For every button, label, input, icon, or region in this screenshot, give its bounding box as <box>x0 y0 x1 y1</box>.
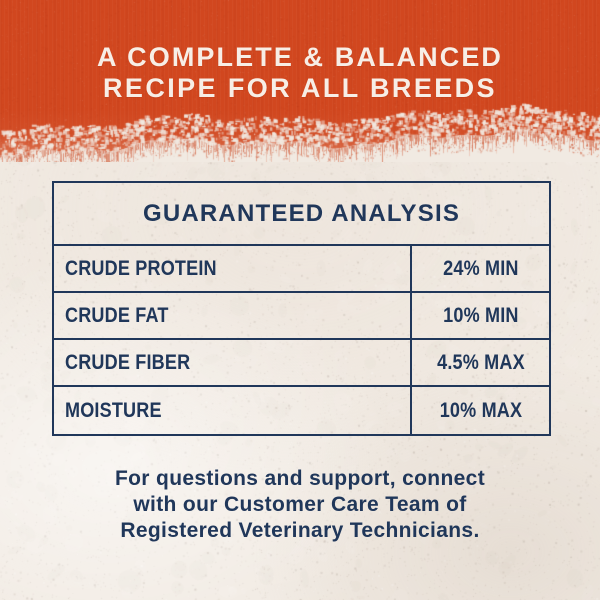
table-row: Crude Fat 10% MIN <box>54 293 549 340</box>
nutrient-value-cell: 4.5% MAX <box>412 340 549 385</box>
nutrient-label-cell: Crude Fiber <box>54 340 412 385</box>
guaranteed-analysis-table: Guaranteed Analysis Crude Protein 24% MI… <box>52 181 551 436</box>
nutrient-value: 10% MIN <box>443 304 518 328</box>
nutrient-name: Crude Fat <box>65 304 169 328</box>
support-line-3: Registered Veterinary Technicians. <box>40 518 560 544</box>
nutrient-name: Crude Protein <box>65 257 217 281</box>
nutrient-value-cell: 10% MAX <box>412 387 549 434</box>
table-row: Moisture 10% MAX <box>54 387 549 434</box>
headline-line-1: A Complete & Balanced <box>97 42 503 72</box>
nutrient-label-cell: Crude Fat <box>54 293 412 338</box>
nutrient-name: Crude Fiber <box>65 351 190 375</box>
nutrient-label-cell: Crude Protein <box>54 246 412 291</box>
nutrient-value: 4.5% MAX <box>437 351 525 375</box>
band-torn-fade <box>0 110 600 162</box>
nutrient-value-cell: 24% MIN <box>412 246 549 291</box>
nutrient-value: 24% MIN <box>443 257 518 281</box>
support-line-1: For questions and support, connect <box>40 466 560 492</box>
table-row: Crude Fiber 4.5% MAX <box>54 340 549 387</box>
headline-line-2: Recipe for All Breeds <box>0 73 600 104</box>
support-message: For questions and support, connect with … <box>40 466 560 544</box>
table-title: Guaranteed Analysis <box>143 200 460 228</box>
product-info-panel: A Complete & Balanced Recipe for All Bre… <box>0 0 600 600</box>
support-line-2: with our Customer Care Team of <box>40 492 560 518</box>
nutrient-name: Moisture <box>65 399 162 423</box>
nutrient-label-cell: Moisture <box>54 387 412 434</box>
table-header-row: Guaranteed Analysis <box>54 183 549 246</box>
table-row: Crude Protein 24% MIN <box>54 246 549 293</box>
nutrient-value-cell: 10% MIN <box>412 293 549 338</box>
page-headline: A Complete & Balanced Recipe for All Bre… <box>0 42 600 104</box>
nutrient-value: 10% MAX <box>439 399 522 423</box>
